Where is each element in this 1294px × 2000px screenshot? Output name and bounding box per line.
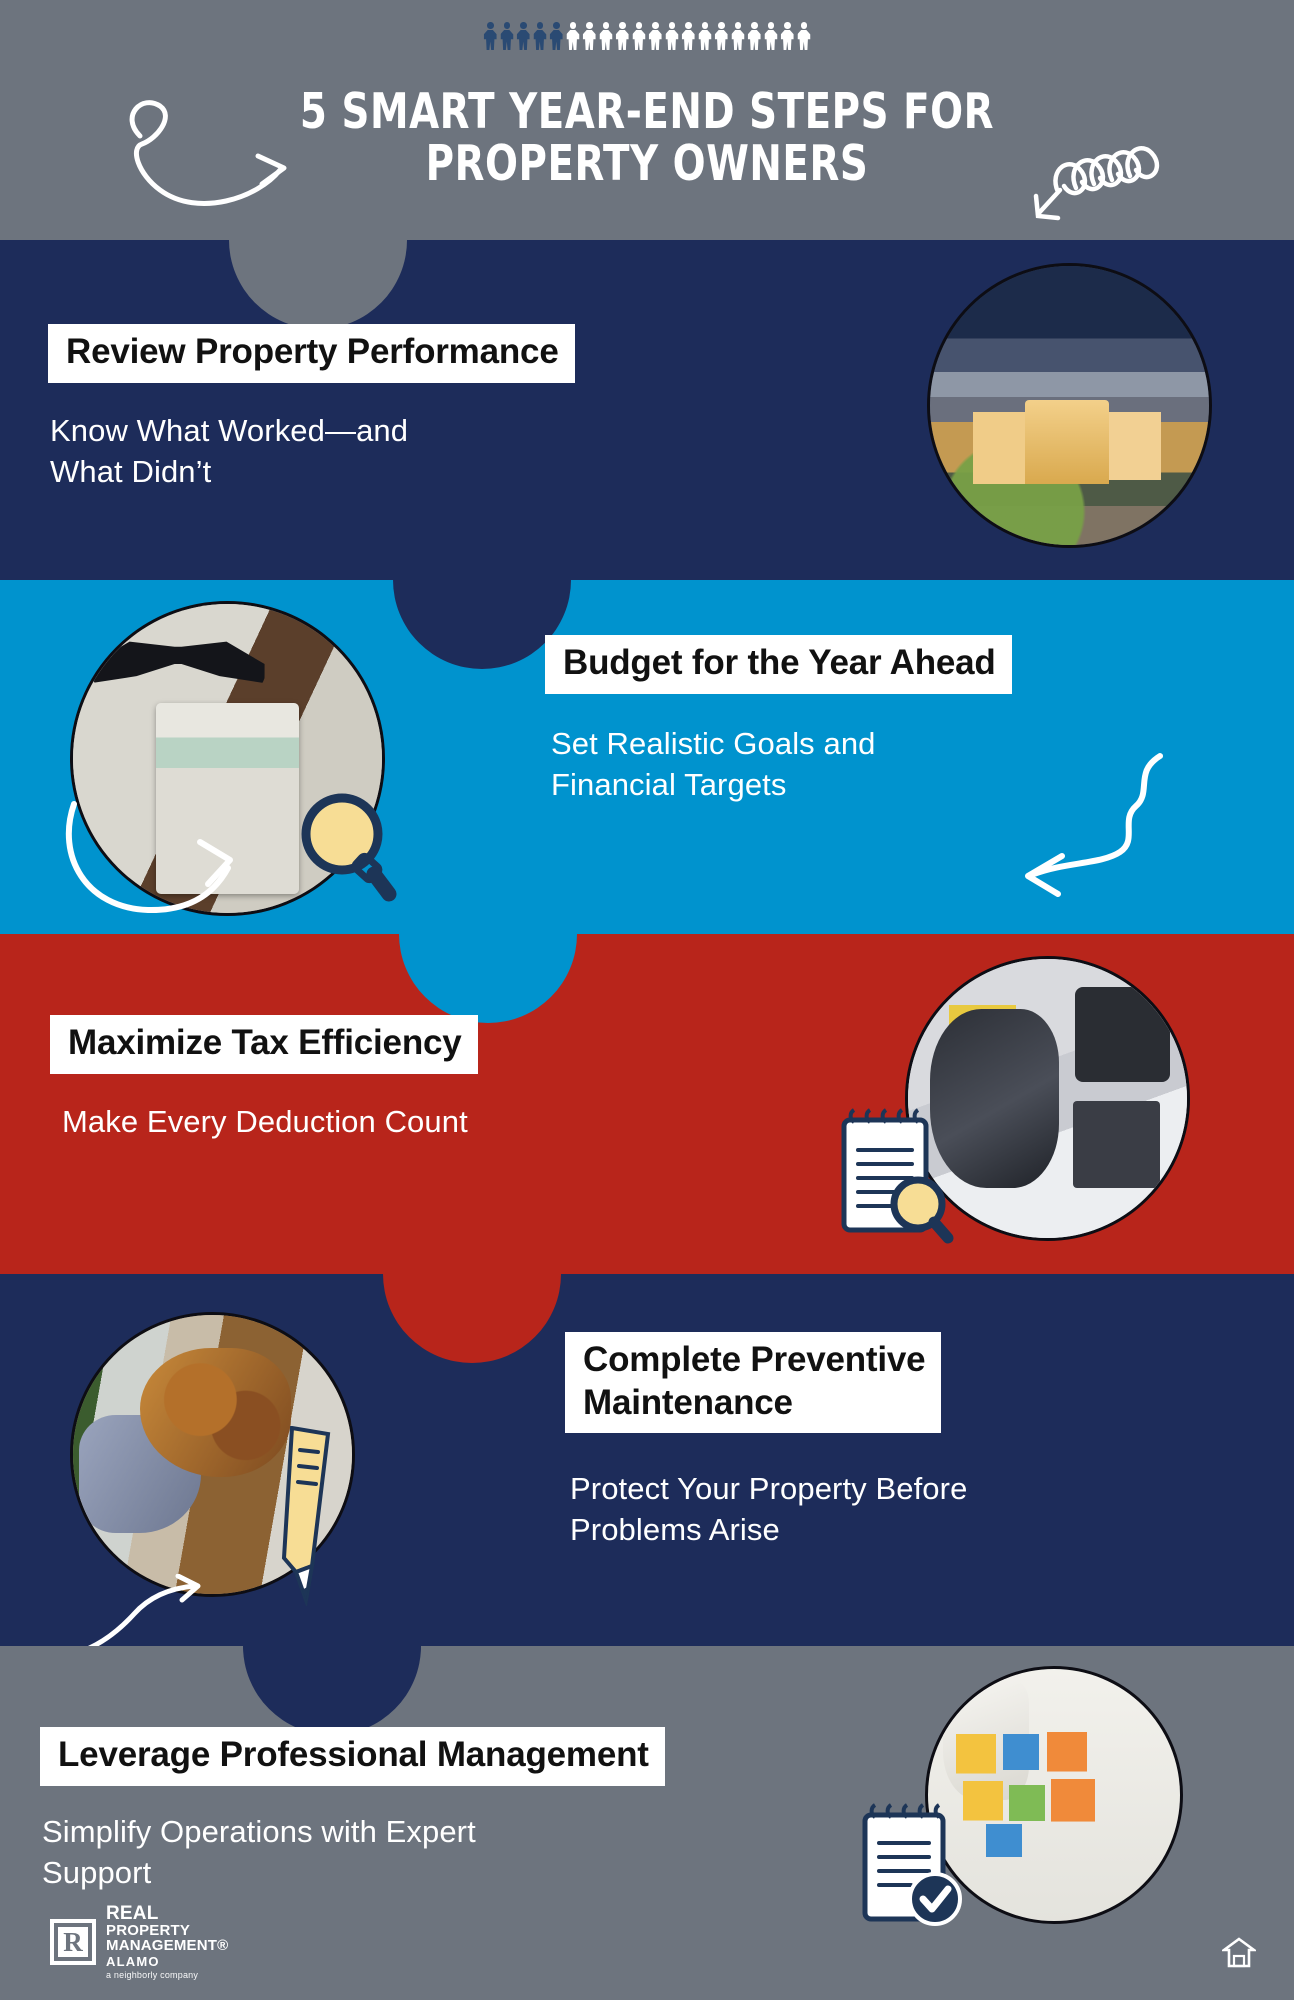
clipboard-magnifier-icon — [830, 1104, 960, 1244]
person-icon — [714, 22, 728, 50]
step-section-3: Maximize Tax Efficiency Make Every Deduc… — [0, 934, 1294, 1274]
step-section-1: Review Property Performance Know What Wo… — [0, 240, 1294, 580]
person-icon — [483, 22, 497, 50]
person-icon — [582, 22, 596, 50]
header-band: 5 Smart Year-End Steps For Property Owne… — [0, 0, 1294, 240]
page-title: 5 Smart Year-End Steps For Property Owne… — [78, 86, 1217, 190]
person-icon — [698, 22, 712, 50]
step-section-4: Complete Preventive Maintenance Protect … — [0, 1274, 1294, 1646]
step-3-subtitle: Make Every Deduction Count — [62, 1101, 468, 1142]
brand-line-1: REAL — [106, 1904, 228, 1923]
person-icon — [516, 22, 530, 50]
step-section-5: Leverage Professional Management Simplif… — [0, 1646, 1294, 2000]
equal-housing-opportunity-icon — [1222, 1936, 1256, 1972]
person-icon — [549, 22, 563, 50]
step-4-subtitle: Protect Your Property Before Problems Ar… — [570, 1468, 967, 1550]
person-icon — [566, 22, 580, 50]
person-icon — [797, 22, 811, 50]
person-icon — [533, 22, 547, 50]
page-title-line1: 5 Smart Year-End Steps For — [78, 86, 1217, 138]
step-2-title: Budget for the Year Ahead — [545, 635, 1012, 694]
person-icon — [681, 22, 695, 50]
brand-line-3: MANAGEMENT® — [106, 1938, 228, 1953]
step-3-title: Maximize Tax Efficiency — [50, 1015, 478, 1074]
step-4-title: Complete Preventive Maintenance — [565, 1332, 941, 1433]
person-icon — [747, 22, 761, 50]
person-icon — [648, 22, 662, 50]
step-2-subtitle: Set Realistic Goals and Financial Target… — [551, 723, 876, 805]
step-5-title: Leverage Professional Management — [40, 1727, 665, 1786]
brand-tagline: a neighborly company — [106, 1971, 228, 1980]
person-icon — [665, 22, 679, 50]
section-notch — [399, 934, 577, 1023]
person-icon — [731, 22, 745, 50]
page-title-line2: Property Owners — [78, 138, 1217, 190]
infographic-poster: 5 Smart Year-End Steps For Property Owne… — [0, 0, 1294, 2000]
people-row-icon — [483, 22, 811, 50]
person-icon — [764, 22, 778, 50]
section-notch — [243, 1646, 421, 1735]
rpm-mark-icon — [50, 1919, 96, 1965]
step-1-title: Review Property Performance — [48, 324, 575, 383]
clipboard-check-icon — [855, 1801, 975, 1931]
house-exterior-photo — [927, 263, 1212, 548]
step-5-subtitle: Simplify Operations with Expert Support — [42, 1811, 476, 1893]
brand-line-2: PROPERTY — [106, 1923, 228, 1938]
section-notch — [383, 1274, 561, 1363]
magnifier-icon — [294, 790, 399, 905]
pencil-icon — [262, 1426, 342, 1606]
brand-line-4: ALAMO — [106, 1955, 228, 1968]
squiggle-arrow-doodle — [1010, 748, 1190, 908]
person-icon — [500, 22, 514, 50]
person-icon — [599, 22, 613, 50]
section-notch — [229, 240, 407, 329]
person-icon — [632, 22, 646, 50]
step-1-subtitle: Know What Worked—and What Didn’t — [50, 410, 408, 492]
step-section-2: Budget for the Year Ahead Set Realistic … — [0, 580, 1294, 934]
footer-brand-logo: REAL PROPERTY MANAGEMENT® ALAMO a neighb… — [50, 1904, 228, 1980]
person-icon — [615, 22, 629, 50]
person-icon — [780, 22, 794, 50]
